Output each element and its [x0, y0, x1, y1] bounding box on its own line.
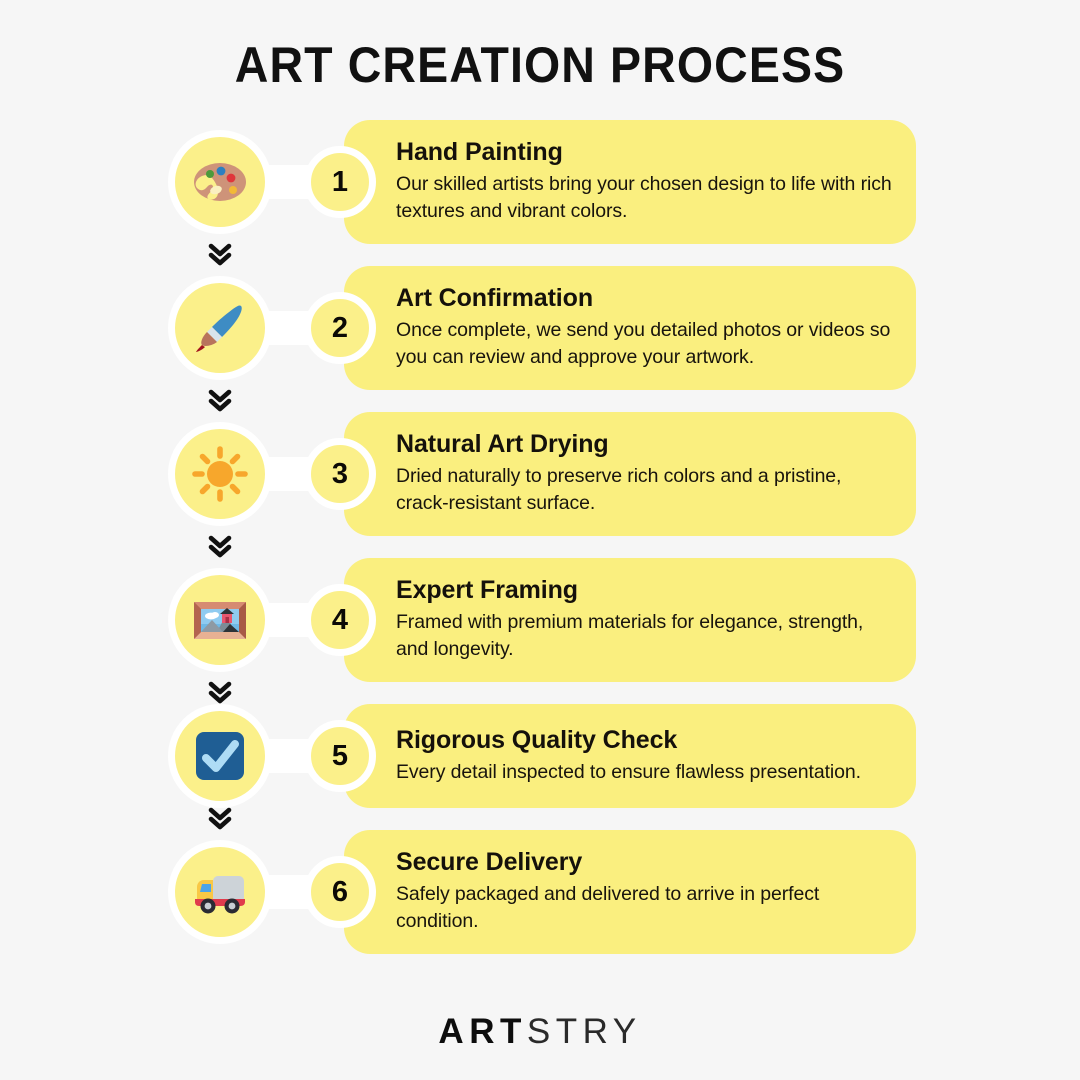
step-number-badge: 2 [304, 292, 376, 364]
delivery-truck-icon [189, 861, 251, 923]
step-description: Framed with premium materials for elegan… [396, 609, 892, 664]
step-title: Secure Delivery [396, 848, 892, 877]
step-card: Secure Delivery Safely packaged and deli… [344, 830, 916, 954]
double-chevron-down-icon [205, 802, 235, 837]
step-row: Rigorous Quality Check Every detail insp… [0, 704, 1080, 808]
step-description: Every detail inspected to ensure flawles… [396, 759, 892, 787]
step-icon-circle [168, 704, 272, 808]
step-row: Expert Framing Framed with premium mater… [0, 558, 1080, 682]
check-box-icon [189, 725, 251, 787]
step-number-badge: 4 [304, 584, 376, 656]
step-icon-circle [168, 422, 272, 526]
sun-icon [189, 443, 251, 505]
step-description: Our skilled artists bring your chosen de… [396, 171, 892, 226]
step-number-badge: 6 [304, 856, 376, 928]
step-number-badge: 3 [304, 438, 376, 510]
step-icon-circle [168, 276, 272, 380]
step-description: Once complete, we send you detailed phot… [396, 317, 892, 372]
step-icon-circle [168, 840, 272, 944]
brand-logo: ARTSTRY [0, 1012, 1080, 1052]
step-card: Expert Framing Framed with premium mater… [344, 558, 916, 682]
double-chevron-down-icon [205, 238, 235, 273]
step-title: Art Confirmation [396, 284, 892, 313]
double-chevron-down-icon [205, 384, 235, 419]
step-title: Expert Framing [396, 576, 892, 605]
step-card: Art Confirmation Once complete, we send … [344, 266, 916, 390]
step-number-badge: 5 [304, 720, 376, 792]
step-title: Rigorous Quality Check [396, 726, 892, 755]
paintbrush-icon [189, 297, 251, 359]
step-description: Dried naturally to preserve rich colors … [396, 463, 892, 518]
framed-picture-icon [189, 589, 251, 651]
step-row: Hand Painting Our skilled artists bring … [0, 120, 1080, 244]
page-title: ART CREATION PROCESS [38, 36, 1042, 94]
step-row: Natural Art Drying Dried naturally to pr… [0, 412, 1080, 536]
step-description: Safely packaged and delivered to arrive … [396, 881, 892, 936]
double-chevron-down-icon [205, 676, 235, 711]
step-icon-circle [168, 568, 272, 672]
step-card: Rigorous Quality Check Every detail insp… [344, 704, 916, 808]
process-steps-list: Hand Painting Our skilled artists bring … [0, 120, 1080, 976]
double-chevron-down-icon [205, 530, 235, 565]
step-icon-circle [168, 130, 272, 234]
palette-icon [189, 151, 251, 213]
step-card: Hand Painting Our skilled artists bring … [344, 120, 916, 244]
logo-bold-text: ART [438, 1012, 526, 1051]
logo-light-text: STRY [527, 1012, 642, 1051]
step-row: Secure Delivery Safely packaged and deli… [0, 830, 1080, 954]
step-row: Art Confirmation Once complete, we send … [0, 266, 1080, 390]
step-number-badge: 1 [304, 146, 376, 218]
step-card: Natural Art Drying Dried naturally to pr… [344, 412, 916, 536]
step-title: Natural Art Drying [396, 430, 892, 459]
step-title: Hand Painting [396, 138, 892, 167]
